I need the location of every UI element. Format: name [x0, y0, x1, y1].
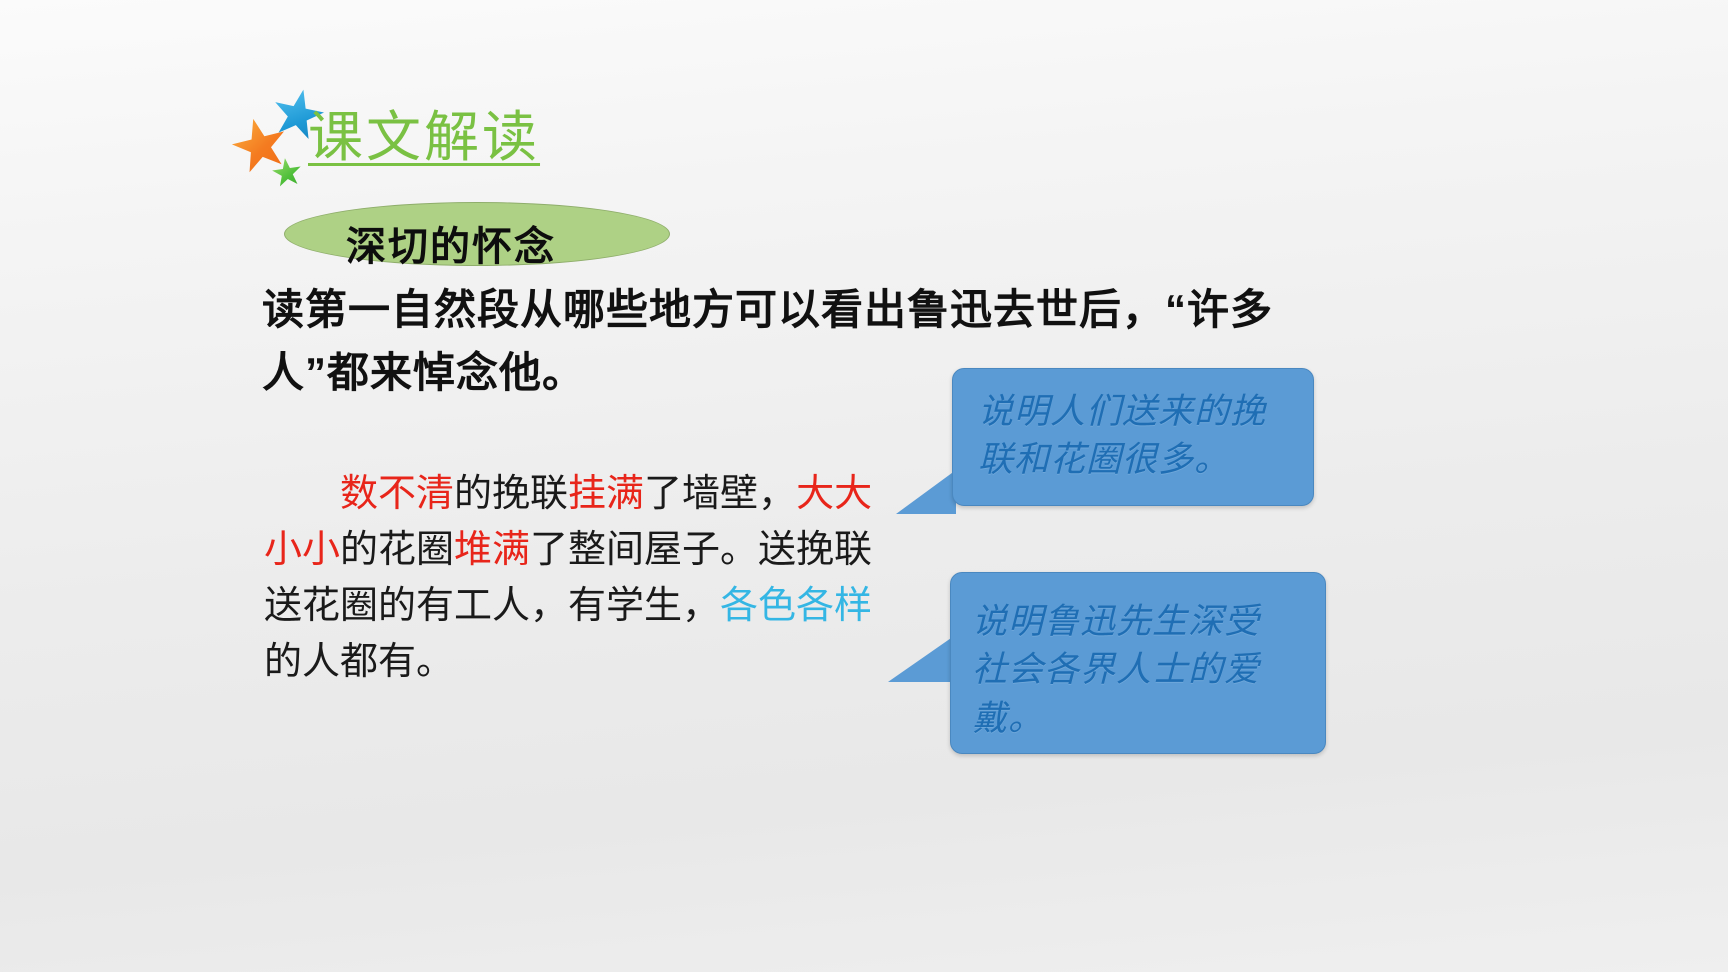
passage-text: 数不清的挽联挂满了墙壁，大大 小小的花圈堆满了整间屋子。送挽联 送花圈的有工人，…	[264, 466, 944, 689]
passage-seg-lezhengjian: 了整间屋子。送挽联	[530, 527, 872, 571]
slide-canvas: 课文解读 深切的怀念 读第一自然段从哪些地方可以看出鲁迅去世后，“许多 人”都来…	[0, 0, 1728, 972]
oval-badge-label: 深切的怀念	[346, 214, 556, 272]
callout-1-text: 说明人们送来的挽 联和花圈很多。	[978, 388, 1308, 485]
passage-seg-dewanlian: 的挽联	[454, 471, 568, 515]
passage-seg-gesegeyang: 各色各样	[720, 583, 872, 627]
callout-2-line-3: 戴。	[972, 695, 1312, 743]
passage-seg-dada: 大大	[796, 471, 872, 515]
callout-1-line-2: 联和花圈很多。	[978, 436, 1308, 484]
question-line-1: 读第一自然段从哪些地方可以看出鲁迅去世后，“许多	[262, 278, 1272, 341]
passage-seg-shubuqing: 数不清	[340, 471, 454, 515]
section-title: 课文解读	[308, 92, 540, 172]
passage-line-4: 的人都有。	[264, 634, 944, 690]
callout-1-line-1: 说明人们送来的挽	[978, 388, 1308, 436]
passage-seg-xiaoxiao: 小小	[264, 527, 340, 571]
passage-seg-songhuaquan: 送花圈的有工人，有学生，	[264, 583, 720, 627]
passage-seg-derendouyou: 的人都有。	[264, 639, 454, 683]
passage-seg-dehuaquan: 的花圈	[340, 527, 454, 571]
passage-seg-duiman: 堆满	[454, 527, 530, 571]
passage-seg-leqiangbi: 了墙壁，	[644, 471, 796, 515]
callout-2-text: 说明鲁迅先生深受 社会各界人士的爱 戴。	[972, 598, 1312, 743]
callout-2-line-1: 说明鲁迅先生深受	[972, 598, 1312, 646]
passage-line-1: 数不清的挽联挂满了墙壁，大大	[264, 466, 944, 522]
passage-seg-guaman: 挂满	[568, 471, 644, 515]
passage-line-3: 送花圈的有工人，有学生，各色各样	[264, 578, 944, 634]
passage-line-2: 小小的花圈堆满了整间屋子。送挽联	[264, 522, 944, 578]
callout-2-line-2: 社会各界人士的爱	[972, 646, 1312, 694]
